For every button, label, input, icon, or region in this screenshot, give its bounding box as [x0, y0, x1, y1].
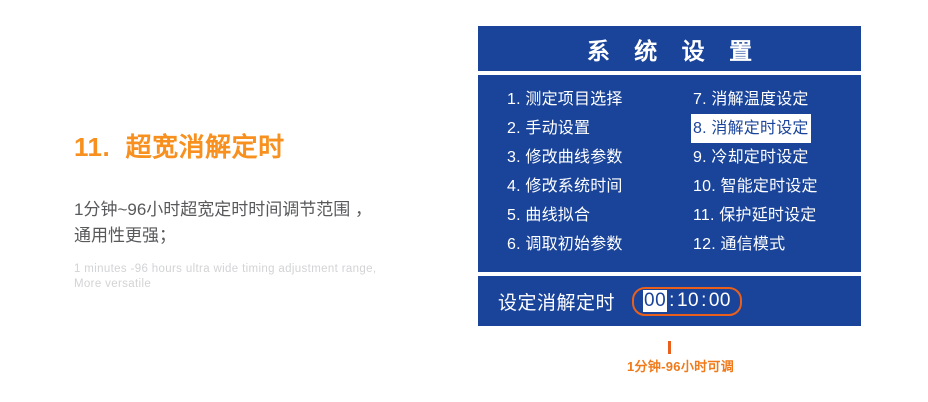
screen-header: 系 统 设 置	[478, 26, 861, 71]
settings-menu: 1. 测定项目选择 2. 手动设置 3. 修改曲线参数 4. 修改系统时间 5.…	[478, 75, 861, 272]
device-screen: 系 统 设 置 1. 测定项目选择 2. 手动设置 3. 修改曲线参数 4. 修…	[478, 26, 861, 340]
feature-description-chinese: 1分钟~96小时超宽定时时间调节范围 ， 通用性更强；	[74, 197, 444, 250]
feature-description-english: 1 minutes -96 hours ultra wide timing ad…	[74, 262, 444, 293]
callout-pointer-line	[668, 341, 671, 354]
feature-description-block: 11. 超宽消解定时 1分钟~96小时超宽定时时间调节范围 ， 通用性更强； 1…	[74, 133, 444, 293]
feature-description-chinese-line-2: 通用性更强；	[74, 223, 444, 249]
menu-item-5[interactable]: 5. 曲线拟合	[505, 201, 592, 230]
menu-column-right: 7. 消解温度设定 8. 消解定时设定 9. 冷却定时设定 10. 智能定时设定…	[675, 85, 861, 272]
menu-item-10[interactable]: 10. 智能定时设定	[691, 172, 820, 201]
screen-footer: 设定消解定时 00 : 10 : 00	[478, 276, 861, 326]
feature-description-english-line-1: 1 minutes -96 hours ultra wide timing ad…	[74, 262, 444, 278]
timer-separator-1: :	[667, 290, 677, 312]
menu-item-12[interactable]: 12. 通信模式	[691, 230, 787, 259]
menu-item-2[interactable]: 2. 手动设置	[505, 114, 592, 143]
callout-label: 1分钟-96小时可调	[627, 356, 734, 375]
digestion-timer-label: 设定消解定时	[498, 288, 615, 315]
menu-item-3[interactable]: 3. 修改曲线参数	[505, 143, 625, 172]
timer-minutes-segment[interactable]: 10	[677, 290, 699, 312]
menu-item-4[interactable]: 4. 修改系统时间	[505, 172, 625, 201]
feature-description-chinese-line-1: 1分钟~96小时超宽定时时间调节范围 ，	[74, 197, 444, 223]
timer-separator-2: :	[699, 290, 709, 312]
menu-item-8-selected[interactable]: 8. 消解定时设定	[691, 114, 811, 143]
timer-seconds-segment[interactable]: 00	[709, 290, 731, 312]
menu-column-left: 1. 测定项目选择 2. 手动设置 3. 修改曲线参数 4. 修改系统时间 5.…	[478, 85, 675, 272]
screen-header-title: 系 统 设 置	[578, 32, 761, 66]
feature-description-english-line-2: More versatile	[74, 277, 444, 293]
menu-item-7[interactable]: 7. 消解温度设定	[691, 85, 811, 114]
timer-hours-segment[interactable]: 00	[643, 290, 667, 312]
menu-item-1[interactable]: 1. 测定项目选择	[505, 85, 625, 114]
menu-item-9[interactable]: 9. 冷却定时设定	[691, 143, 811, 172]
menu-item-6[interactable]: 6. 调取初始参数	[505, 230, 625, 259]
page-title: 11. 超宽消解定时	[74, 133, 444, 163]
digestion-timer-field[interactable]: 00 : 10 : 00	[632, 287, 742, 316]
menu-item-11[interactable]: 11. 保护延时设定	[691, 201, 819, 230]
